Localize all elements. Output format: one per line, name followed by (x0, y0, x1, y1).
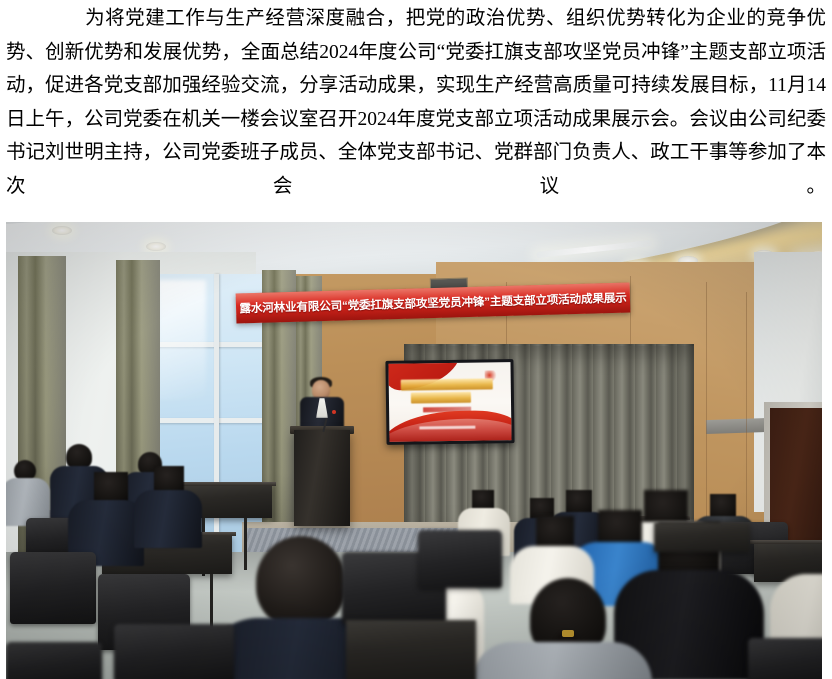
downlight-icon (52, 226, 72, 235)
desk-edge (750, 540, 822, 544)
window-mullion (152, 418, 270, 423)
chair (114, 624, 234, 679)
projection-slide (388, 362, 511, 442)
chair (6, 642, 102, 679)
window-mullion (214, 274, 219, 564)
conference-photo: 露水河林业有限公司“党委扛旗支部攻坚党员冲锋”主题支部立项活动成果展示 (6, 222, 822, 679)
hair-tie (562, 630, 574, 637)
chair (10, 552, 96, 624)
slide-title-line1 (401, 378, 493, 390)
attendee-body (134, 490, 202, 548)
chair (748, 638, 822, 679)
window-glare (158, 280, 206, 400)
podium (294, 430, 350, 526)
attendee-body (472, 642, 652, 679)
article-paragraph: 为将党建工作与生产经营深度融合，把党的政治优势、组织优势转化为企业的竞争优势、创… (6, 2, 826, 203)
desk-edge (178, 482, 276, 486)
article-body: 为将党建工作与生产经营深度融合，把党的政治优势、组织优势转化为企业的竞争优势、创… (6, 2, 826, 203)
projection-screen (385, 359, 514, 445)
downlight-icon (146, 242, 166, 251)
desk-leg (244, 518, 247, 570)
presenter-badge (332, 410, 336, 414)
desk (654, 522, 750, 552)
slide-title-line2 (411, 392, 471, 404)
attendee-head (256, 536, 346, 628)
document-page: 为将党建工作与生产经营深度融合，把党的政治优势、组织优势转化为企业的竞争优势、创… (0, 0, 832, 679)
desk (346, 620, 476, 679)
chair (418, 530, 502, 588)
